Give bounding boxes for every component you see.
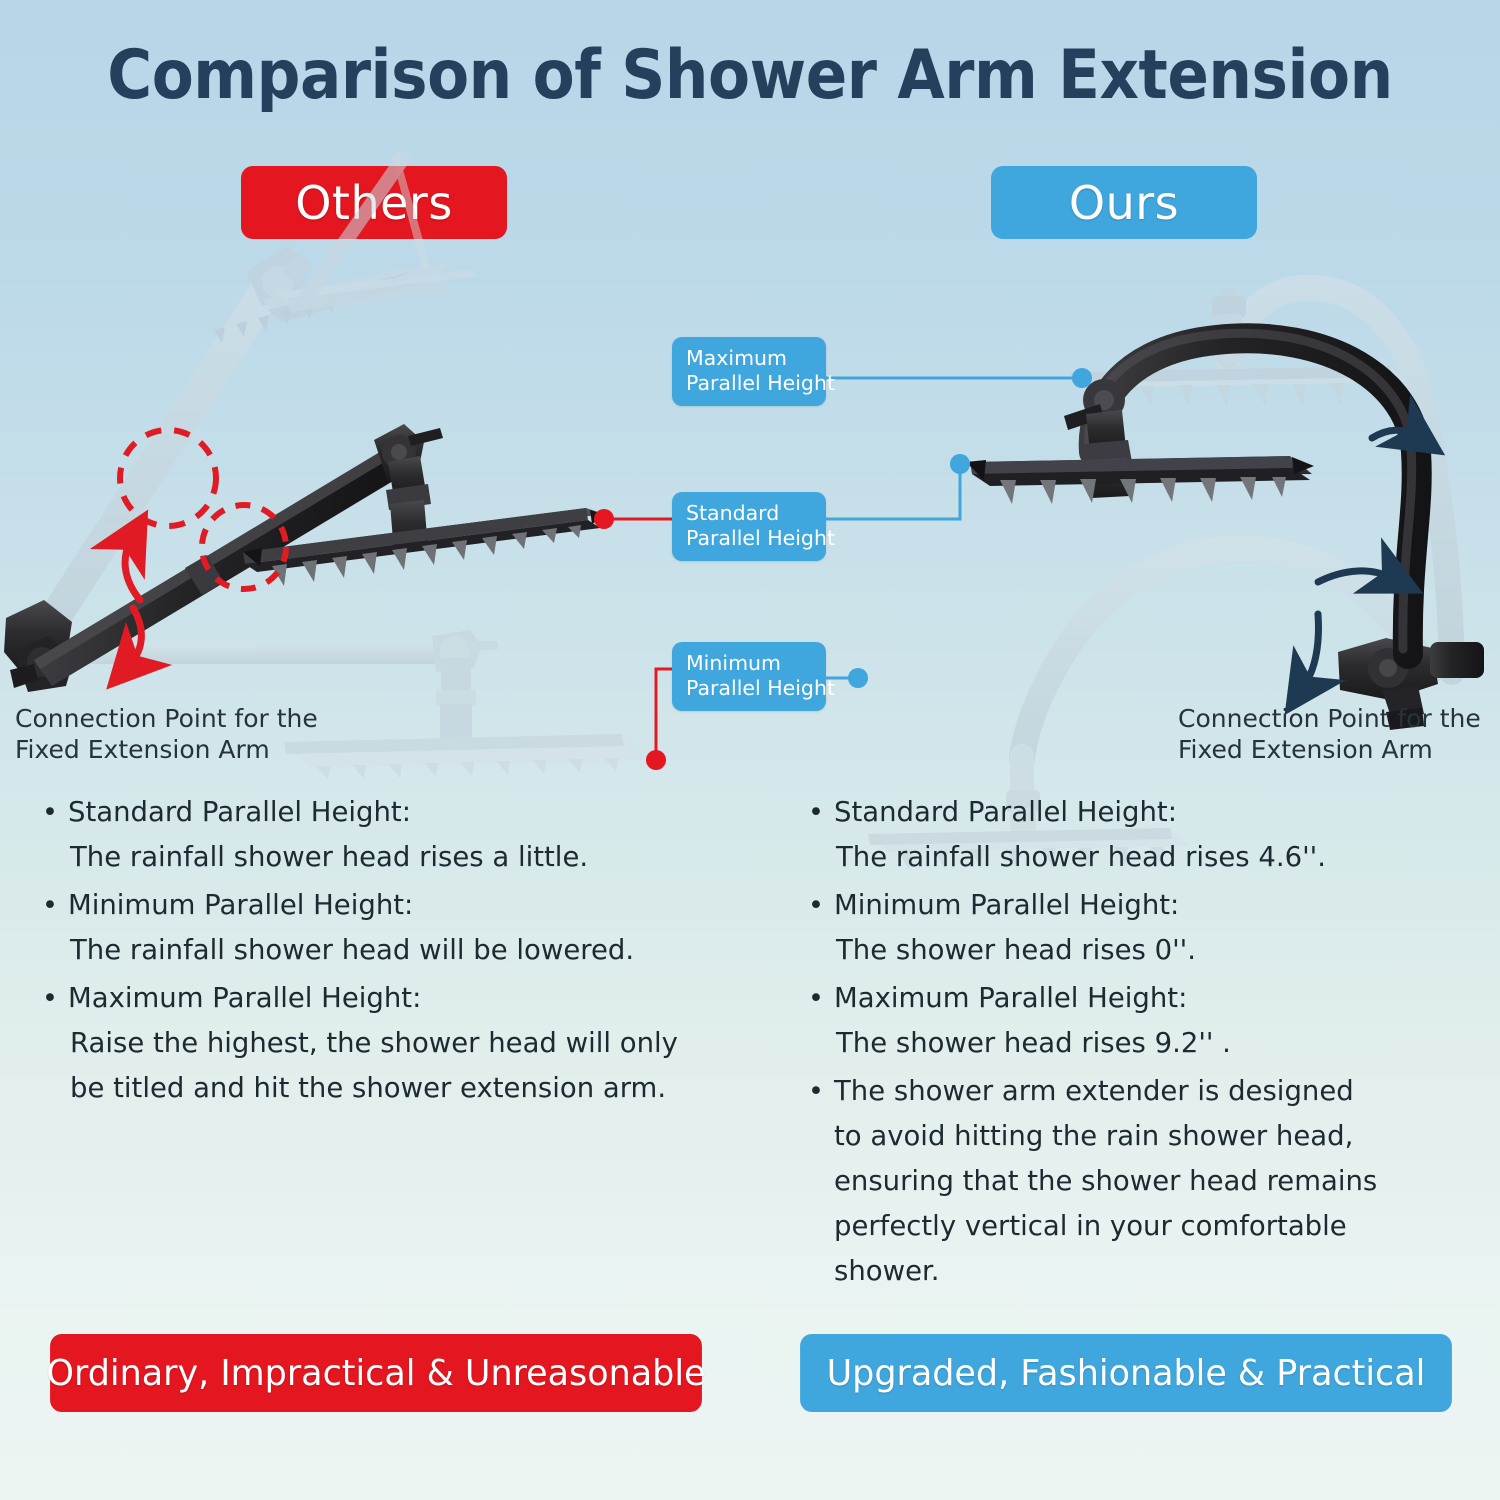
callout-minimum: Minimum Parallel Height — [672, 642, 826, 711]
rotation-arrow-up — [125, 540, 140, 600]
list-item-body: The rainfall shower head rises a little. — [68, 835, 742, 880]
others-ghost-maximum — [18, 150, 478, 662]
list-item-heading: Standard Parallel Height: — [834, 790, 1448, 835]
callout-maximum-line1: Maximum — [686, 346, 812, 371]
list-item: • Minimum Parallel Height: The rainfall … — [42, 883, 742, 973]
list-item: • Maximum Parallel Height: The shower he… — [808, 976, 1448, 1066]
callout-minimum-line1: Minimum — [686, 651, 812, 676]
list-item: • Standard Parallel Height: The rainfall… — [42, 790, 742, 880]
caption-right-line2: Fixed Extension Arm — [1178, 734, 1481, 765]
list-item: • The shower arm extender is designed to… — [808, 1069, 1448, 1294]
caption-right-line1: Connection Point for the — [1178, 703, 1481, 734]
callout-maximum-line2: Parallel Height — [686, 371, 812, 396]
caption-right-connection-point: Connection Point for the Fixed Extension… — [1178, 703, 1481, 765]
callout-standard: Standard Parallel Height — [672, 492, 826, 561]
list-item-heading: Minimum Parallel Height: — [68, 883, 742, 928]
list-item-body: The rainfall shower head will be lowered… — [68, 928, 742, 973]
bullet-dot-icon: • — [808, 883, 834, 973]
list-item-body: be titled and hit the shower extension a… — [68, 1066, 742, 1111]
others-illustration — [4, 150, 648, 780]
caption-left-connection-point: Connection Point for the Fixed Extension… — [15, 703, 318, 765]
caption-left-line1: Connection Point for the — [15, 703, 318, 734]
callout-maximum: Maximum Parallel Height — [672, 337, 826, 406]
list-item-body: perfectly vertical in your comfortable — [834, 1204, 1448, 1249]
list-item: • Standard Parallel Height: The rainfall… — [808, 790, 1448, 880]
callout-minimum-line2: Parallel Height — [686, 676, 812, 701]
list-item-heading: Maximum Parallel Height: — [68, 976, 742, 1021]
list-item-body: The shower head rises 9.2'' . — [834, 1021, 1448, 1066]
bullet-dot-icon: • — [42, 976, 68, 1111]
list-item-body: The rainfall shower head rises 4.6''. — [834, 835, 1448, 880]
list-item: • Maximum Parallel Height: Raise the hig… — [42, 976, 742, 1111]
list-item-body: The shower arm extender is designed — [834, 1069, 1448, 1114]
ours-feature-list: • Standard Parallel Height: The rainfall… — [808, 790, 1448, 1297]
list-item-body: to avoid hitting the rain shower head, — [834, 1114, 1448, 1159]
infographic-root: Comparison of Shower Arm Extension Other… — [0, 0, 1500, 1500]
bullet-dot-icon: • — [808, 790, 834, 880]
bullet-dot-icon: • — [42, 883, 68, 973]
callout-standard-line2: Parallel Height — [686, 526, 812, 551]
list-item-heading: Minimum Parallel Height: — [834, 883, 1448, 928]
bullet-dot-icon: • — [808, 976, 834, 1066]
callout-standard-line1: Standard — [686, 501, 812, 526]
bullet-dot-icon: • — [42, 790, 68, 880]
ours-illustration — [868, 288, 1484, 870]
bullet-dot-icon: • — [808, 1069, 834, 1294]
caption-left-line2: Fixed Extension Arm — [15, 734, 318, 765]
list-item-body: Raise the highest, the shower head will … — [68, 1021, 742, 1066]
list-item-body: ensuring that the shower head remains — [834, 1159, 1448, 1204]
rotation-arrow-down-right — [1304, 614, 1318, 686]
list-item-body: shower. — [834, 1249, 1448, 1294]
list-item: • Minimum Parallel Height: The shower he… — [808, 883, 1448, 973]
list-item-body: The shower head rises 0''. — [834, 928, 1448, 973]
list-item-heading: Standard Parallel Height: — [68, 790, 742, 835]
list-item-heading: Maximum Parallel Height: — [834, 976, 1448, 1021]
others-feature-list: • Standard Parallel Height: The rainfall… — [42, 790, 742, 1114]
